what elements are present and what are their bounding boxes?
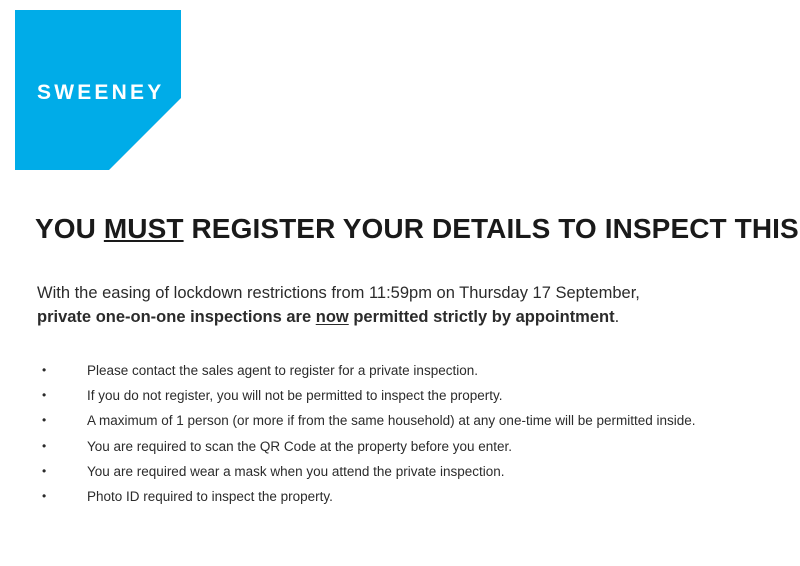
page-title-emphasis: MUST [104,213,184,244]
intro-line-2: private one-on-one inspections are now p… [37,305,767,329]
page-title-part2: REGISTER YOUR DETAILS TO INSPECT THIS PR… [184,213,800,244]
requirements-list: • Please contact the sales agent to regi… [37,358,777,509]
bullet-icon: • [42,459,54,484]
intro-line-2-emphasis: now [316,308,349,326]
list-item: • You are required to scan the QR Code a… [37,434,777,459]
intro-line-1: With the easing of lockdown restrictions… [37,281,767,305]
list-item: • You are required wear a mask when you … [37,459,777,484]
page-title: YOU MUST REGISTER YOUR DETAILS TO INSPEC… [35,213,775,244]
intro-line-2-period: . [615,308,620,326]
bullet-icon: • [42,383,54,408]
list-item-label: Photo ID required to inspect the propert… [87,484,333,509]
bullet-icon: • [42,434,54,459]
intro-line-2-part2: permitted strictly by appointment [349,308,615,326]
notice-page: SWEENEY YOU MUST REGISTER YOUR DETAILS T… [0,0,800,566]
logo-corner-cutout [109,98,181,170]
intro-line-2-part1: private one-on-one inspections are [37,308,316,326]
list-item-label: Please contact the sales agent to regist… [87,358,478,383]
bullet-icon: • [42,358,54,383]
list-item-label: You are required to scan the QR Code at … [87,434,512,459]
logo-wordmark: SWEENEY [37,82,164,103]
bullet-icon: • [42,484,54,509]
sweeney-logo: SWEENEY [15,10,181,170]
list-item-label: If you do not register, you will not be … [87,383,502,408]
intro-paragraph: With the easing of lockdown restrictions… [37,281,767,329]
list-item: • Please contact the sales agent to regi… [37,358,777,383]
bullet-icon: • [42,408,54,433]
list-item: • A maximum of 1 person (or more if from… [37,408,777,433]
list-item: • If you do not register, you will not b… [37,383,777,408]
list-item-label: You are required wear a mask when you at… [87,459,505,484]
list-item-label: A maximum of 1 person (or more if from t… [87,408,696,433]
page-title-part1: YOU [35,213,104,244]
list-item: • Photo ID required to inspect the prope… [37,484,777,509]
